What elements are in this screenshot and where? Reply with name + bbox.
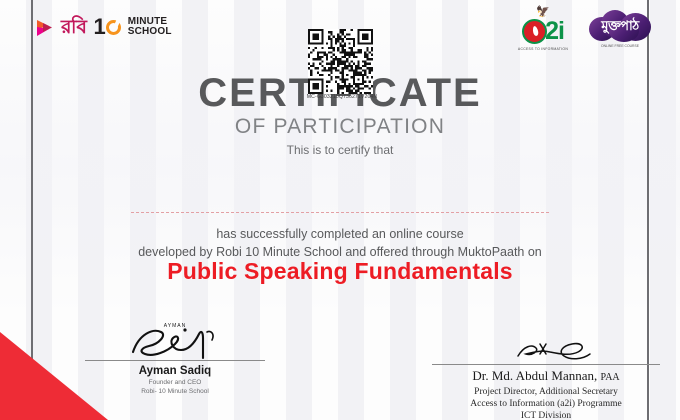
muktopaath-logo: মুক্তপাঠ ONLINE FREE COURSE bbox=[586, 10, 654, 58]
signatory-role-right-1: Project Director, Additional Secretary bbox=[432, 386, 660, 398]
a2i-logo: 🦅 2i ACCESS TO INFORMATION bbox=[512, 8, 574, 58]
signatory-role-right-3: ICT Division bbox=[432, 410, 660, 420]
signature-rule-left bbox=[85, 360, 265, 361]
minute-school-wordmark: MINUTE SCHOOL bbox=[128, 17, 172, 37]
signature-rule-right bbox=[432, 364, 660, 365]
muktopaath-bengali-wordmark: মুক্তপাঠ bbox=[589, 16, 651, 36]
course-title: Public Speaking Fundamentals bbox=[0, 258, 680, 285]
signatory-name-right-text: Dr. Md. Abdul Mannan, bbox=[472, 368, 597, 383]
signatory-role-left-2: Robi- 10 Minute School bbox=[85, 387, 265, 396]
a2i-wordmark: 2i bbox=[512, 17, 574, 45]
ten-minute-numeral: 1 bbox=[93, 16, 120, 38]
certify-statement: This is to certify that bbox=[0, 143, 680, 157]
a2i-bird-icon: 🦅 bbox=[512, 8, 574, 17]
certificate-canvas: রবি 1 MINUTE SCHOOL 🦅 2i ACCESS TO INFOR… bbox=[0, 0, 680, 420]
signatory-name-left: Ayman Sadiq bbox=[85, 364, 265, 378]
abdul-mannan-signature-image bbox=[432, 338, 660, 364]
numeral-zero-ring-icon bbox=[106, 20, 121, 35]
muktopaath-cloud-icon: মুক্তপাঠ bbox=[589, 10, 651, 42]
robi-bengali-wordmark: রবি bbox=[61, 18, 86, 37]
numeral-one: 1 bbox=[93, 16, 104, 38]
name-placeholder-rule bbox=[131, 212, 549, 213]
signature-block-left: AYMAN Ayman Sadiq Founder and CEO Robi- … bbox=[85, 318, 265, 396]
a2i-circle-a-icon bbox=[522, 19, 547, 44]
signatory-role-left-1: Founder and CEO bbox=[85, 378, 265, 387]
signatory-name-right: Dr. Md. Abdul Mannan, PAA bbox=[432, 368, 660, 386]
robi-10-minute-school-logo: রবি 1 MINUTE SCHOOL bbox=[36, 12, 172, 42]
robi-arrow-icon bbox=[36, 18, 58, 37]
signature-block-right: Dr. Md. Abdul Mannan, PAA Project Direct… bbox=[432, 338, 660, 420]
svg-text:AYMAN: AYMAN bbox=[164, 323, 186, 329]
ayman-sadiq-signature-image: AYMAN bbox=[85, 318, 265, 360]
signatory-role-right-2: Access to Information (a2i) Programme bbox=[432, 398, 660, 410]
qr-code-image bbox=[308, 29, 373, 94]
a2i-text: 2i bbox=[545, 19, 564, 43]
course-description: has successfully completed an online cou… bbox=[0, 225, 680, 261]
word-school: SCHOOL bbox=[128, 27, 172, 37]
course-line-1: has successfully completed an online cou… bbox=[0, 225, 680, 243]
signatory-suffix-right: PAA bbox=[601, 372, 620, 383]
certificate-id: MC-G303210Q736271V204N bbox=[282, 94, 402, 100]
muktopaath-tagline: ONLINE FREE COURSE bbox=[586, 44, 654, 48]
title-of-participation: OF PARTICIPATION bbox=[0, 115, 680, 139]
a2i-tagline: ACCESS TO INFORMATION bbox=[512, 47, 574, 51]
qr-code[interactable] bbox=[308, 29, 373, 94]
